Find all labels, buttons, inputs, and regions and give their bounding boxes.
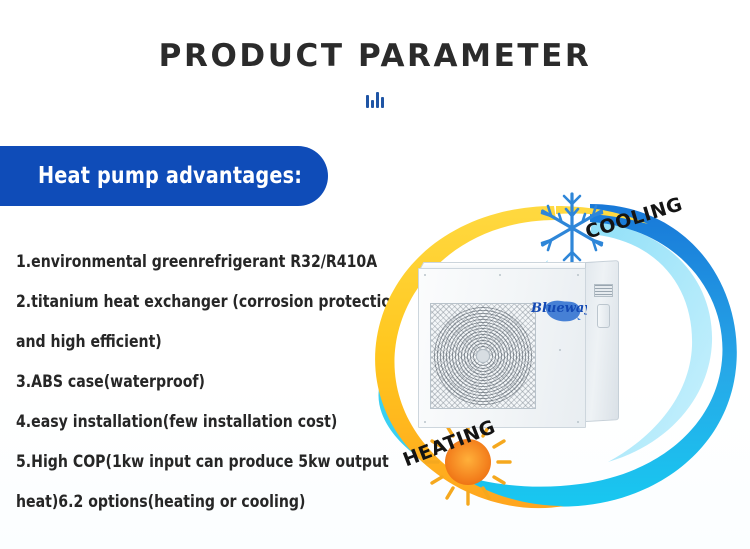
banner-label: Heat pump advantages: [38, 163, 302, 189]
feature-list: 1.environmental greenrefrigerant R32/R41… [16, 242, 388, 522]
unit-valve-cover [597, 304, 610, 328]
product-parameter-banner: PRODUCT PARAMETER Heat pump advantages: … [0, 0, 750, 549]
fan-hub [476, 349, 490, 363]
bar-chart-accent-icon [0, 88, 750, 108]
list-item: and high efficient) [16, 322, 369, 362]
page-title: PRODUCT PARAMETER [0, 38, 750, 74]
list-item: 3.ABS case(waterproof) [16, 362, 369, 402]
list-item: 5.High COP(1kw input can produce 5kw out… [16, 442, 369, 482]
heat-pump-advantages-banner: Heat pump advantages: [0, 146, 328, 206]
brand-logo: Blueway [525, 295, 587, 325]
unit-front-panel: Blueway [418, 268, 586, 428]
list-item: 4.easy installation(few installation cos… [16, 402, 369, 442]
heat-pump-unit-image: Blueway [418, 262, 620, 428]
unit-vent [594, 284, 613, 297]
list-item: heat)6.2 options(heating or cooling) [16, 482, 369, 522]
list-item: 1.environmental greenrefrigerant R32/R41… [16, 242, 369, 282]
list-item: 2.titanium heat exchanger (corrosion pro… [16, 282, 369, 322]
fan-grille [430, 303, 536, 409]
brand-logo-text: Blueway [530, 301, 587, 316]
